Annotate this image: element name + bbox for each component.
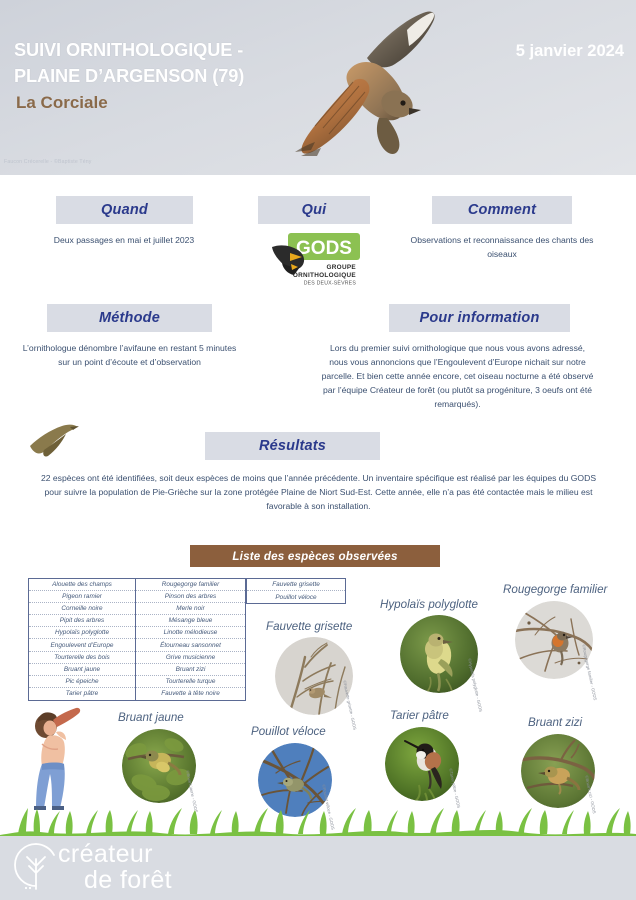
section-heading-pour-information: Pour information	[389, 304, 570, 332]
species-table-column-1: Alouette des champs Pigeon ramier Cornei…	[28, 578, 136, 701]
species-list-banner: Liste des espèces observées	[190, 545, 440, 567]
footer-brand-line1: créateur	[58, 841, 172, 867]
photo-label: Pouillot véloce	[251, 725, 326, 738]
photo-label: Bruant zizi	[528, 716, 582, 729]
section-text-quand: Deux passages en mai et juillet 2023	[38, 234, 210, 248]
table-row: Merle noir	[136, 603, 245, 615]
footer-brand-line2: de forêt	[58, 867, 172, 893]
table-row: Fauvette grisette	[247, 579, 345, 591]
gods-logo-line3: DES DEUX-SÈVRES	[304, 280, 357, 287]
section-heading-resultats: Résultats	[205, 432, 380, 460]
table-row: Rougegorge familier	[136, 579, 245, 591]
table-row: Corneille noire	[29, 603, 135, 615]
table-row: Fauvette à tête noire	[136, 688, 245, 700]
page-header: SUIVI ORNITHOLOGIQUE - PLAINE D’ARGENSON…	[0, 0, 636, 175]
table-row: Alouette des champs	[29, 579, 135, 591]
table-row: Tourterelle des bois	[29, 652, 135, 664]
page-title-line1: SUIVI ORNITHOLOGIQUE -	[14, 38, 244, 64]
birdwatcher-with-telescope-illustration	[12, 706, 98, 810]
section-heading-comment: Comment	[432, 196, 572, 224]
table-row: Pigeon ramier	[29, 591, 135, 603]
species-table-column-3: Fauvette grisette Pouillot véloce	[246, 578, 346, 604]
species-table-column-2: Rougegorge familier Pinson des arbres Me…	[136, 578, 246, 701]
photo-label: Tarier pâtre	[390, 709, 449, 722]
table-row: Engoulevent d’Europe	[29, 639, 135, 651]
photo-tarier-patre	[385, 727, 459, 801]
photo-bruant-zizi	[521, 734, 595, 808]
kestrel-bird-photo	[255, 6, 485, 166]
gods-logo-line1: GROUPE	[327, 264, 357, 271]
table-row: Hypolaïs polyglotte	[29, 627, 135, 639]
photo-label: Hypolaïs polyglotte	[380, 598, 478, 611]
table-row: Grive musicienne	[136, 652, 245, 664]
gods-logo-wordmark: GODS	[296, 238, 352, 259]
section-text-comment: Observations et reconnaissance des chant…	[406, 234, 598, 262]
table-row: Bruant zizi	[136, 664, 245, 676]
photo-label: Rougegorge familier	[503, 583, 607, 596]
gods-logo-line2: ORNITHOLOGIQUE	[293, 272, 357, 279]
photo-fauvette-grisette	[275, 637, 353, 715]
table-row: Mésange bleue	[136, 615, 245, 627]
page-title: SUIVI ORNITHOLOGIQUE - PLAINE D’ARGENSON…	[14, 38, 244, 90]
table-row: Pouillot véloce	[247, 591, 345, 603]
tree-circle-logo-icon	[12, 841, 60, 893]
section-heading-qui: Qui	[258, 196, 370, 224]
table-row: Pipit des arbres	[29, 615, 135, 627]
section-text-methode: L’ornithologue dénombre l’avifaune en re…	[22, 342, 237, 370]
gods-logo: GODS GROUPE ORNITHOLOGIQUE DES DEUX-SÈVR…	[268, 233, 363, 289]
table-row: Tourterelle turque	[136, 676, 245, 688]
photo-rougegorge-familier	[515, 601, 593, 679]
photo-hypolais-polyglotte	[400, 615, 478, 693]
hero-photo-credit: Faucon Crécerelle - ©Baptiste Tény	[4, 159, 92, 165]
table-row: Étourneau sansonnet	[136, 639, 245, 651]
footer-brand: créateur de forêt	[58, 841, 172, 893]
table-row: Linotte mélodieuse	[136, 627, 245, 639]
section-text-pour-information: Lors du premier suivi ornithologique que…	[320, 342, 595, 412]
section-text-resultats: 22 espèces ont été identifiées, soit deu…	[36, 472, 601, 514]
table-row: Pic épeiche	[29, 676, 135, 688]
photo-bruant-jaune	[122, 729, 196, 803]
page-title-line2: PLAINE D’ARGENSON (79)	[14, 64, 244, 90]
flying-bird-icon	[26, 420, 82, 462]
table-row: Bruant jaune	[29, 664, 135, 676]
photo-label: Bruant jaune	[118, 711, 184, 724]
photo-label: Fauvette grisette	[266, 620, 352, 633]
table-row: Pinson des arbres	[136, 591, 245, 603]
table-row: Tarier pâtre	[29, 688, 135, 700]
page-subtitle: La Corciale	[16, 93, 108, 113]
section-heading-quand: Quand	[56, 196, 193, 224]
section-heading-methode: Méthode	[47, 304, 212, 332]
report-date: 5 janvier 2024	[516, 42, 624, 61]
